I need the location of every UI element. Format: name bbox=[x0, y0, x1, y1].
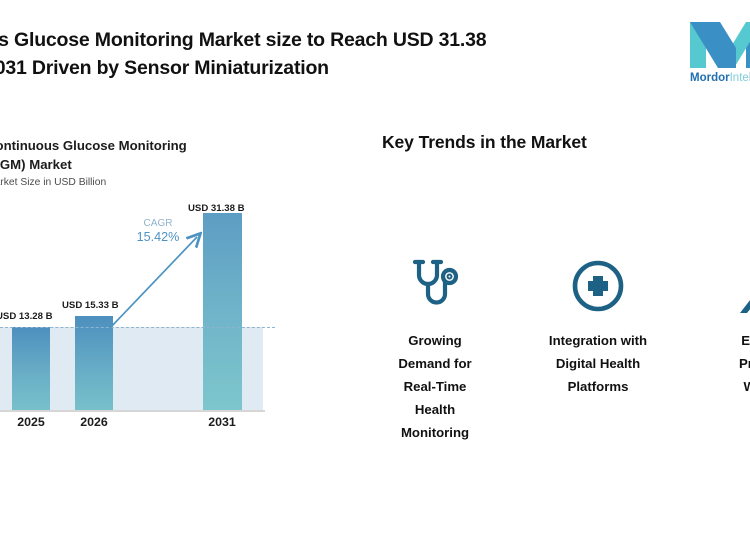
medical-cross-circle-icon bbox=[523, 255, 673, 317]
infographic-page: …nuous Glucose Monitoring Market size to… bbox=[0, 0, 750, 536]
trend-label-1: Growing Demand for Real-Time Health Moni… bbox=[360, 329, 510, 444]
brand-wordmark: MordorIntelli bbox=[690, 72, 750, 84]
x-axis-line bbox=[0, 410, 265, 412]
bar-2026 bbox=[75, 316, 113, 410]
trends-heading: Key Trends in the Market bbox=[382, 132, 587, 153]
chart-subtitle: Market Size in USD Billion bbox=[0, 177, 106, 188]
bar-2031 bbox=[203, 213, 242, 410]
x-tick-2031: 2031 bbox=[192, 415, 252, 429]
bar-chart-plot: CAGR 15.42% USD 13.28 B USD 15.33 B USD … bbox=[0, 215, 275, 450]
bar-label-2031: USD 31.38 B bbox=[188, 203, 245, 214]
brand-word-light: Intelli bbox=[730, 72, 750, 84]
trend-item-3: Expan Preven Welln Ca bbox=[686, 255, 750, 421]
cagr-label: CAGR bbox=[130, 217, 186, 230]
bar-label-2026: USD 15.33 B bbox=[62, 300, 119, 311]
walking-person-icon bbox=[686, 255, 750, 317]
cagr-annotation: CAGR 15.42% bbox=[130, 217, 186, 245]
mordor-m-mark bbox=[690, 14, 750, 68]
cagr-value: 15.42% bbox=[130, 230, 186, 245]
page-title: …nuous Glucose Monitoring Market size to… bbox=[0, 26, 632, 82]
trend-item-1: Growing Demand for Real-Time Health Moni… bbox=[360, 255, 510, 444]
stethoscope-icon bbox=[360, 255, 510, 317]
brand-word-bold: Mordor bbox=[690, 72, 730, 84]
brand-logo: MordorIntelli bbox=[690, 14, 750, 92]
reference-dashed-line bbox=[0, 327, 275, 328]
bar-label-2025: USD 13.28 B bbox=[0, 311, 53, 322]
trend-label-2: Integration with Digital Health Platform… bbox=[523, 329, 673, 398]
trend-label-3: Expan Preven Welln Ca bbox=[686, 329, 750, 421]
chart-panel: Continuous Glucose Monitoring (CGM) Mark… bbox=[0, 130, 300, 520]
chart-title: Continuous Glucose Monitoring (CGM) Mark… bbox=[0, 136, 246, 174]
trend-item-2: Integration with Digital Health Platform… bbox=[523, 255, 673, 398]
x-tick-2026: 2026 bbox=[64, 415, 124, 429]
x-tick-2025: 2025 bbox=[1, 415, 61, 429]
bar-2025 bbox=[12, 327, 50, 410]
